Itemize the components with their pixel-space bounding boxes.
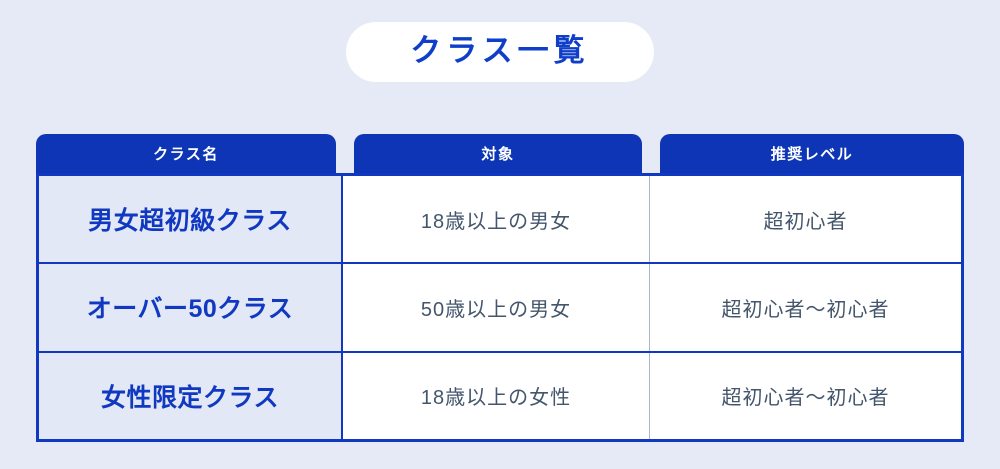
cell-target: 18歳以上の女性 [343, 353, 650, 439]
cell-recommended-level: 超初心者 [650, 176, 961, 262]
page-title: クラス一覧 [400, 34, 600, 68]
column-header-recommended-level: 推奨レベル [660, 134, 964, 174]
cell-recommended-level: 超初心者〜初心者 [650, 264, 961, 350]
page-title-pill: クラス一覧 [346, 22, 654, 82]
table-row: 男女超初級クラス 18歳以上の男女 超初心者 [39, 176, 961, 264]
cell-target: 18歳以上の男女 [343, 176, 650, 262]
table-row: 女性限定クラス 18歳以上の女性 超初心者〜初心者 [39, 353, 961, 439]
page-title-container: クラス一覧 [0, 22, 1000, 82]
column-header-class-name: クラス名 [36, 134, 336, 174]
table-row: オーバー50クラス 50歳以上の男女 超初心者〜初心者 [39, 264, 961, 352]
class-table: 男女超初級クラス 18歳以上の男女 超初心者 オーバー50クラス 50歳以上の男… [36, 173, 964, 442]
cell-class-name: オーバー50クラス [39, 264, 343, 350]
cell-class-name: 女性限定クラス [39, 353, 343, 439]
column-header-target: 対象 [354, 134, 642, 174]
cell-target: 50歳以上の男女 [343, 264, 650, 350]
class-list-page: クラス一覧 クラス名 対象 推奨レベル 男女超初級クラス 18歳以上の男女 超初… [0, 0, 1000, 469]
cell-recommended-level: 超初心者〜初心者 [650, 353, 961, 439]
cell-class-name: 男女超初級クラス [39, 176, 343, 262]
table-header-row: クラス名 対象 推奨レベル [36, 134, 964, 174]
